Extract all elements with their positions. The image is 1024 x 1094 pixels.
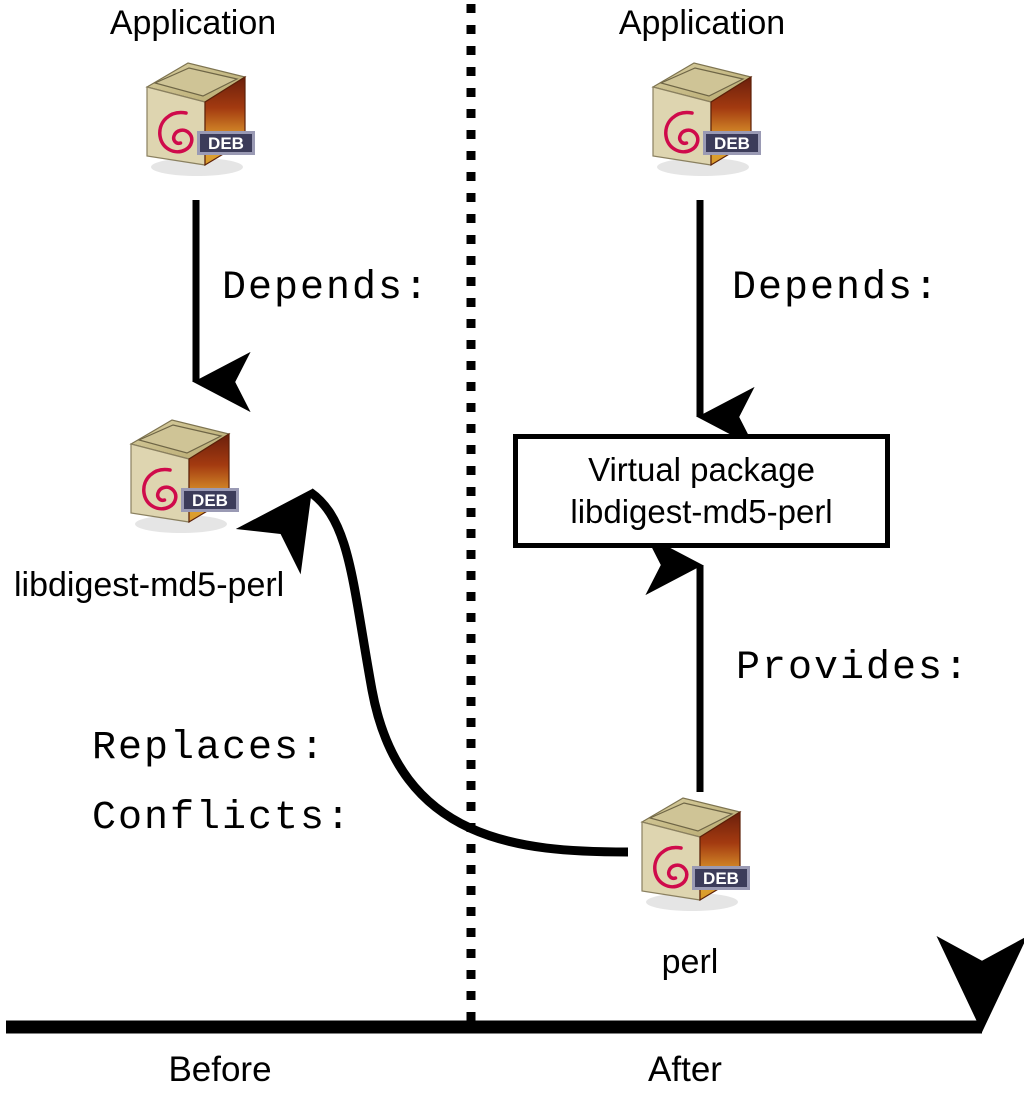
deb-badge: DEB (197, 131, 255, 155)
libdigest-package-icon: DEB (117, 412, 242, 537)
perl-package-label: perl (590, 942, 790, 982)
app-package-icon-before: DEB (133, 55, 258, 180)
provides-label: Provides: (736, 646, 970, 692)
conflicts-label: Conflicts: (92, 796, 352, 842)
virtual-package-line2: libdigest-md5-perl (570, 491, 832, 533)
svg-text:DEB: DEB (192, 491, 228, 510)
libdigest-package-label: libdigest-md5-perl (14, 565, 364, 605)
replaces-label: Replaces: (92, 726, 326, 772)
deb-badge: DEB (692, 866, 750, 890)
deb-badge: DEB (181, 488, 239, 512)
svg-text:DEB: DEB (703, 869, 739, 888)
svg-text:DEB: DEB (208, 134, 244, 153)
depends-label-after: Depends: (732, 266, 940, 312)
virtual-package-box: Virtual package libdigest-md5-perl (513, 434, 890, 548)
page-title-after: Application (552, 3, 852, 43)
deb-badge: DEB (703, 131, 761, 155)
perl-package-icon: DEB (628, 790, 753, 915)
virtual-package-line1: Virtual package (588, 449, 815, 491)
diagram-canvas: Application Application (0, 0, 1024, 1094)
app-package-icon-after: DEB (639, 55, 764, 180)
page-title-before: Application (43, 3, 343, 43)
timeline-label-after: After (585, 1050, 785, 1090)
timeline-label-before: Before (120, 1050, 320, 1090)
depends-label-before: Depends: (222, 266, 430, 312)
svg-text:DEB: DEB (714, 134, 750, 153)
